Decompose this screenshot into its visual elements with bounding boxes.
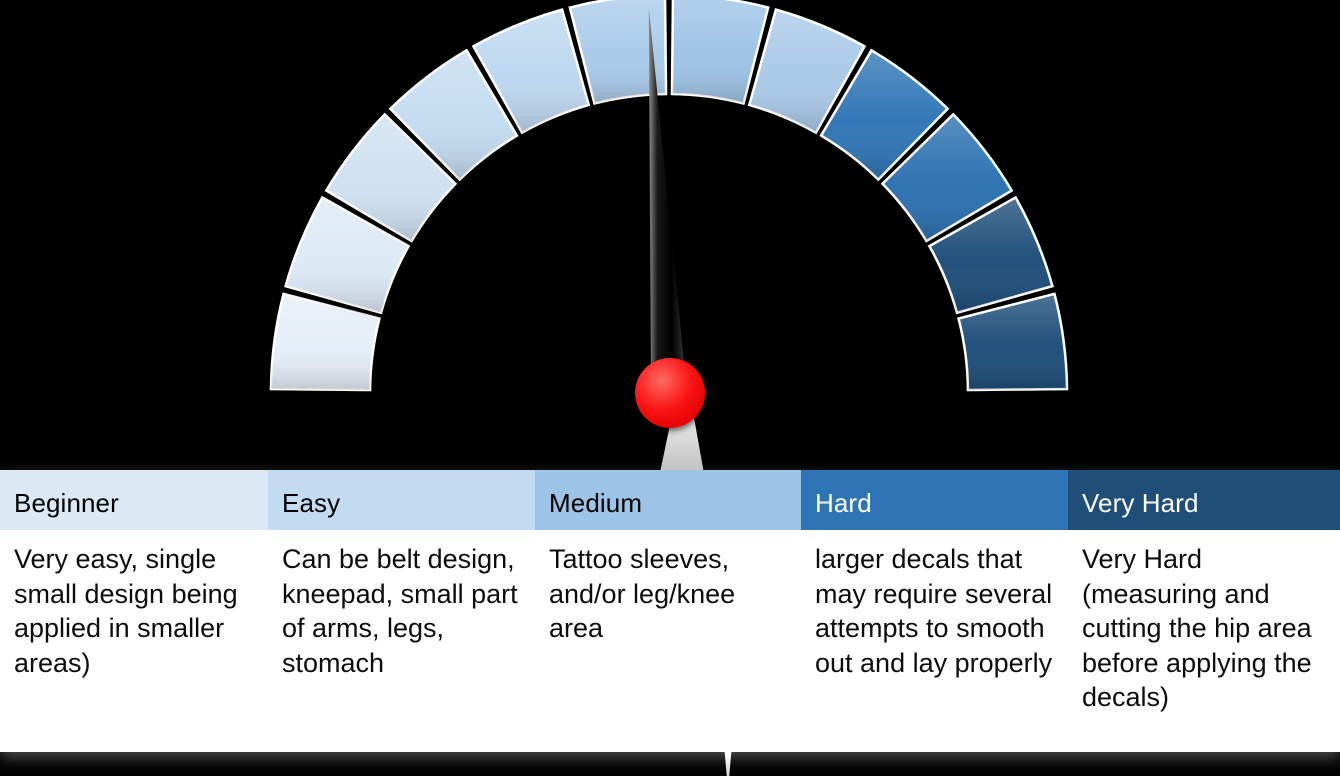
table-cell-description-4: Very Hard (measuring and cutting the hip…: [1068, 530, 1340, 752]
slide-canvas: BeginnerEasyMediumHardVery Hard Very eas…: [0, 0, 1340, 776]
table-header-medium[interactable]: Medium: [535, 470, 801, 530]
difficulty-legend-table: BeginnerEasyMediumHardVery Hard Very eas…: [0, 470, 1340, 752]
table-body-row: Very easy, single small design being app…: [0, 530, 1340, 752]
table-header-beginner[interactable]: Beginner: [0, 470, 268, 530]
gauge-chart: [0, 0, 1340, 470]
table-cell-description-2: Tattoo sleeves, and/or leg/knee area: [535, 530, 801, 752]
table-header-very-hard[interactable]: Very Hard: [1068, 470, 1340, 530]
table-cell-description-3: larger decals that may require several a…: [801, 530, 1068, 752]
gauge-needle-hub: [635, 358, 705, 428]
table-header-row: BeginnerEasyMediumHardVery Hard: [0, 470, 1340, 530]
table-cell-description-1: Can be belt design, kneepad, small part …: [268, 530, 535, 752]
table-cell-description-0: Very easy, single small design being app…: [0, 530, 268, 752]
needle-tail-lower: [722, 752, 734, 776]
table-header-easy[interactable]: Easy: [268, 470, 535, 530]
table-header-hard[interactable]: Hard: [801, 470, 1068, 530]
